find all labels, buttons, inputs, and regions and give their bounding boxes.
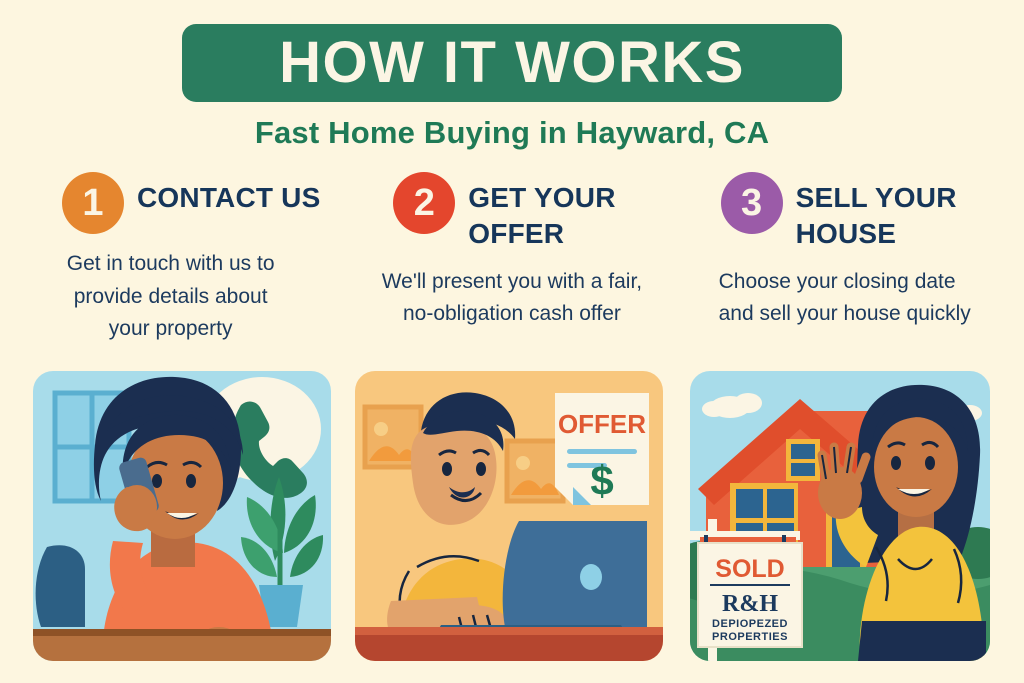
illustration-row: OFFER $ [0, 371, 1024, 663]
sign-brand-line2: PROPERTIES [712, 631, 788, 643]
sign-brand-text: R&H [722, 591, 778, 617]
step-3-illustration: SOLD R&H DEPIOPEZED PROPERTIES [690, 371, 990, 661]
page-title: HOW IT WORKS [279, 34, 745, 92]
step-1-header: 1 CONTACT US [0, 172, 341, 234]
sign-brand-line1: DEPIOPEZED [712, 618, 788, 630]
step-2-title: GET YOUR OFFER [468, 172, 658, 252]
step-2-description: We'll present you with a fair, no-obliga… [341, 266, 682, 331]
how-it-works-infographic: HOW IT WORKS Fast Home Buying in Hayward… [0, 0, 1024, 683]
step-3: 3 SELL YOUR HOUSE Choose your closing da… [683, 172, 1024, 362]
step-1-description: Get in touch with us to provide details … [0, 248, 341, 346]
step-1-illustration [33, 371, 331, 661]
step-1-number-badge: 1 [62, 172, 124, 234]
title-banner: HOW IT WORKS [182, 24, 842, 102]
steps-row: 1 CONTACT US Get in touch with us to pro… [0, 172, 1024, 362]
eye-right [186, 474, 196, 488]
step-1-title: CONTACT US [137, 172, 320, 216]
step-3-title: SELL YOUR HOUSE [796, 172, 991, 252]
page-subtitle: Fast Home Buying in Hayward, CA [0, 115, 1024, 151]
sign-status-text: SOLD [715, 555, 784, 583]
step-1: 1 CONTACT US Get in touch with us to pro… [0, 172, 341, 362]
eye-left [891, 456, 901, 470]
eye-left [152, 474, 162, 488]
step-2-illustration: OFFER $ [355, 371, 663, 661]
offer-document-currency: $ [590, 457, 613, 504]
office-chair [36, 545, 85, 627]
step-2: 2 GET YOUR OFFER We'll present you with … [341, 172, 682, 362]
step-3-number-badge: 3 [721, 172, 783, 234]
offer-document: OFFER $ [555, 393, 649, 505]
eye-right [476, 462, 486, 476]
wall-frame-right [507, 441, 563, 501]
yard-sign: SOLD R&H DEPIOPEZED PROPERTIES [690, 519, 802, 661]
step-2-number-badge: 2 [393, 172, 455, 234]
eye-right [925, 456, 935, 470]
step-3-header: 3 SELL YOUR HOUSE [683, 172, 1024, 252]
step-3-description: Choose your closing date and sell your h… [683, 266, 1024, 331]
step-2-header: 2 GET YOUR OFFER [341, 172, 682, 252]
eye-left [442, 462, 452, 476]
offer-document-label: OFFER [558, 409, 646, 439]
